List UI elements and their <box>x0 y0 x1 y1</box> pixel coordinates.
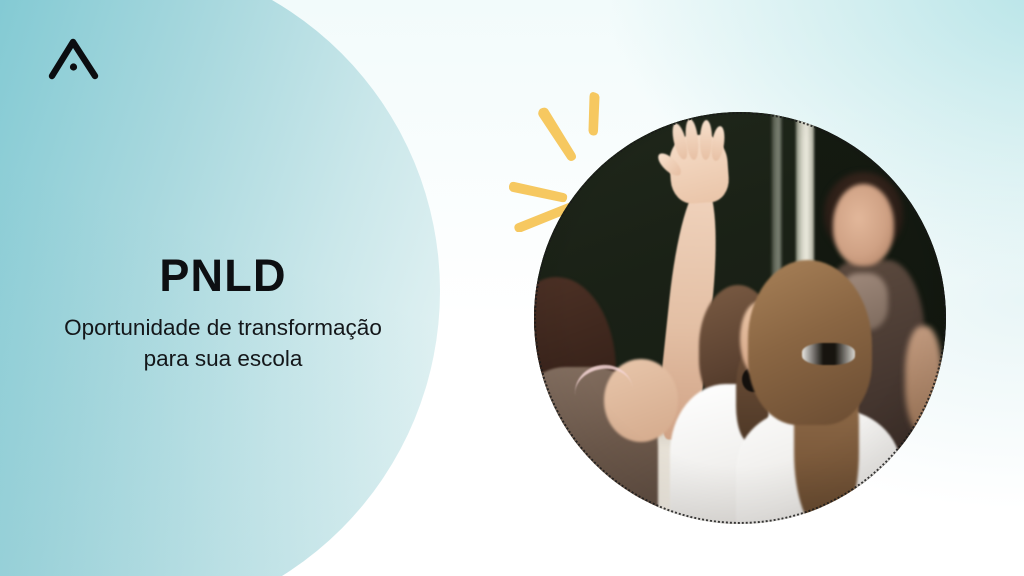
headline-block: PNLD Oportunidade de transformação para … <box>0 252 446 374</box>
classroom-photo <box>534 112 946 524</box>
subtitle-line-1: Oportunidade de transformação <box>64 315 382 340</box>
chevron-dot-logo[interactable] <box>46 34 102 82</box>
slide-canvas: PNLD Oportunidade de transformação para … <box>0 0 1024 576</box>
photo-vignette <box>534 112 946 524</box>
page-title: PNLD <box>0 252 446 300</box>
photo-content <box>534 112 946 524</box>
subtitle-line-2: para sua escola <box>144 346 303 371</box>
page-subtitle: Oportunidade de transformação para sua e… <box>0 312 446 374</box>
